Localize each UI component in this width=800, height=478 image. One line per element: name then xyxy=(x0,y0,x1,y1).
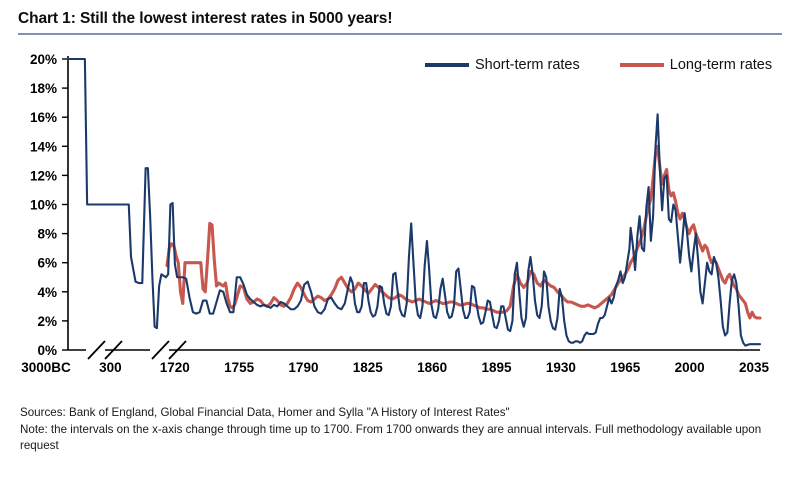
y-axis-tick-label: 10% xyxy=(30,198,57,213)
y-axis-tick-label: 4% xyxy=(37,285,57,300)
x-axis-tick-label: 1790 xyxy=(288,360,318,375)
y-axis-tick-label: 6% xyxy=(37,256,57,271)
legend-label-long-term: Long-term rates xyxy=(670,57,772,73)
x-axis-ticks: 3000BC3001720175517901825186018951930196… xyxy=(21,360,769,375)
title-divider xyxy=(18,33,782,35)
y-axis-tick-label: 2% xyxy=(37,314,57,329)
x-axis-tick-label: 1755 xyxy=(224,360,255,375)
y-axis-tick-label: 12% xyxy=(30,168,57,183)
y-axis-ticks: 0%2%4%6%8%10%12%14%16%18%20% xyxy=(30,52,68,358)
y-axis-tick-label: 14% xyxy=(30,139,57,154)
x-axis-tick-label: 1825 xyxy=(353,360,384,375)
x-axis-tick-label: 1930 xyxy=(546,360,576,375)
legend-item-short-term: Short-term rates xyxy=(425,57,580,73)
chart-legend: Short-term rates Long-term rates xyxy=(425,57,772,73)
y-axis-tick-label: 16% xyxy=(30,110,57,125)
legend-swatch-short-term xyxy=(425,63,469,67)
page-title: Chart 1: Still the lowest interest rates… xyxy=(18,10,782,28)
y-axis-tick-label: 20% xyxy=(30,52,57,67)
x-axis-tick-label: 1860 xyxy=(417,360,447,375)
y-axis-tick-label: 0% xyxy=(37,343,57,358)
chart-footnotes: Sources: Bank of England, Global Financi… xyxy=(20,405,788,455)
legend-item-long-term: Long-term rates xyxy=(620,57,772,73)
interest-rate-line-chart: 0%2%4%6%8%10%12%14%16%18%20% 3000BC30017… xyxy=(0,46,800,376)
legend-swatch-long-term xyxy=(620,63,664,67)
x-axis-tick-label: 3000BC xyxy=(21,360,71,375)
x-axis-tick-label: 1895 xyxy=(482,360,513,375)
series-long-term-rates xyxy=(167,146,760,318)
x-axis-tick-label: 300 xyxy=(99,360,122,375)
footnote-note: Note: the intervals on the x-axis change… xyxy=(20,422,788,455)
x-axis-tick-label: 2000 xyxy=(675,360,705,375)
plot-area: 0%2%4%6%8%10%12%14%16%18%20% 3000BC30017… xyxy=(0,46,800,376)
x-axis-tick-label: 1965 xyxy=(610,360,641,375)
legend-label-short-term: Short-term rates xyxy=(475,57,580,73)
footnote-sources: Sources: Bank of England, Global Financi… xyxy=(20,405,788,422)
chart-header: Chart 1: Still the lowest interest rates… xyxy=(18,10,782,35)
y-axis-tick-label: 18% xyxy=(30,81,57,96)
y-axis-tick-label: 8% xyxy=(37,227,57,242)
x-axis-tick-label: 1720 xyxy=(160,360,190,375)
chart-card: Chart 1: Still the lowest interest rates… xyxy=(0,0,800,478)
x-axis-tick-label: 2035 xyxy=(739,360,770,375)
